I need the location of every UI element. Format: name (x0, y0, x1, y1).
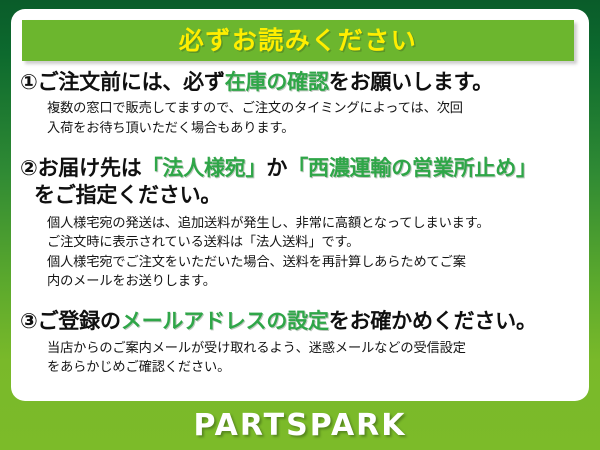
brand-wordmark: PARTSPARK (193, 411, 406, 441)
item-3-heading: ③ご登録のメールアドレスの設定をお確かめください。 (20, 308, 581, 335)
item-1-heading-highlight: 在庫の確認 (225, 70, 329, 94)
item-1-heading: ①ご注文前には、必ず在庫の確認をお願いします。 (20, 69, 581, 96)
item-2-heading-line-2-text: をご指定ください。 (34, 183, 221, 207)
notice-graphic: 必ずお読みください ①ご注文前には、必ず在庫の確認をお願いします。 複数の窓口で… (0, 0, 600, 450)
item-3-heading-highlight: メールアドレスの設定 (121, 309, 329, 333)
item-1-body-line-2: 入荷をお待ち頂いただく場合もあります。 (47, 119, 581, 138)
item-2-heading-highlight-2: 「西濃運輸の営業所止め」 (287, 156, 537, 180)
item-2-body-line-4: 内のメールをお送りします。 (47, 272, 581, 291)
header-banner: 必ずお読みください (22, 20, 574, 61)
item-2-heading-part-3: か (266, 156, 287, 180)
notice-item-1: ①ご注文前には、必ず在庫の確認をお願いします。 複数の窓口で販売してますので、ご… (11, 69, 589, 138)
item-3-body: 当店からのご案内メールが受け取れるよう、迷惑メールなどの受信設定 をあらかじめご… (20, 339, 581, 378)
item-2-heading-part-1: ②お届け先は (20, 156, 142, 180)
item-2-heading-highlight-1: 「法人様宛」 (142, 156, 267, 180)
item-2-body: 個人様宅宛の発送は、追加送料が発生し、非常に高額となってしまいます。 ご注文時に… (20, 214, 581, 292)
item-3-body-line-1: 当店からのご案内メールが受け取れるよう、迷惑メールなどの受信設定 (47, 339, 581, 358)
item-3-heading-part-3: をお確かめください。 (329, 309, 537, 333)
item-2-body-line-1: 個人様宅宛の発送は、追加送料が発生し、非常に高額となってしまいます。 (47, 214, 581, 233)
item-1-heading-part-1: ①ご注文前には、必ず (20, 70, 225, 94)
item-2-body-line-3: 個人様宅宛でご注文をいただいた場合、送料を再計算しあらためてご案 (47, 253, 581, 272)
item-3-heading-part-1: ③ご登録の (20, 309, 121, 333)
item-2-heading-line-2: をご指定ください。 (20, 182, 581, 209)
item-1-heading-part-3: をお願いします。 (329, 70, 493, 94)
notice-items-list: ①ご注文前には、必ず在庫の確認をお願いします。 複数の窓口で販売してますので、ご… (11, 67, 589, 377)
banner-title: 必ずお読みください (179, 28, 418, 53)
item-2-body-line-2: ご注文時に表示されている送料は「法人送料」です。 (47, 233, 581, 252)
notice-item-2: ②お届け先は「法人様宛」か「西濃運輸の営業所止め」 をご指定ください。 個人様宅… (11, 155, 589, 291)
item-1-body: 複数の窓口で販売してますので、ご注文のタイミングによっては、次回 入荷をお待ち頂… (20, 99, 581, 138)
item-2-heading-line-1: ②お届け先は「法人様宛」か「西濃運輸の営業所止め」 (20, 155, 581, 182)
footer-band: PARTSPARK (0, 401, 600, 450)
notice-card: 必ずお読みください ①ご注文前には、必ず在庫の確認をお願いします。 複数の窓口で… (11, 9, 589, 401)
item-3-body-line-2: をあらかじめご確認ください。 (47, 358, 581, 377)
notice-item-3: ③ご登録のメールアドレスの設定をお確かめください。 当店からのご案内メールが受け… (11, 308, 589, 377)
item-1-body-line-1: 複数の窓口で販売してますので、ご注文のタイミングによっては、次回 (47, 99, 581, 118)
